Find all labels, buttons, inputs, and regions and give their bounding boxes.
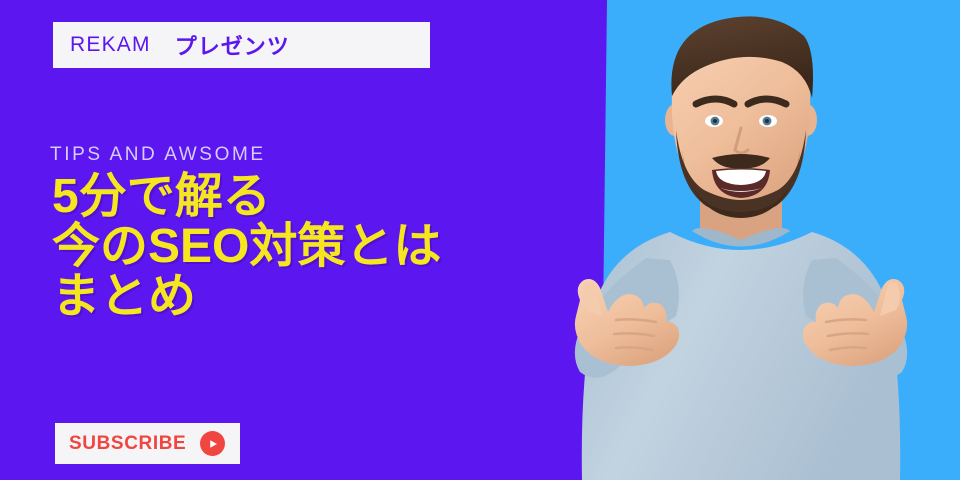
brand-name: REKAM — [70, 33, 151, 57]
presents-banner: REKAM プレゼンツ — [53, 22, 430, 68]
headline-block: 5分で解る 今のSEO対策とは まとめ — [52, 172, 572, 322]
subscribe-button[interactable]: SUBSCRIBE — [55, 423, 240, 464]
head — [665, 16, 817, 218]
headline-line-3: まとめ — [52, 272, 572, 322]
headline-line-1: 5分で解る — [52, 172, 572, 222]
presents-label: プレゼンツ — [175, 29, 290, 61]
thumbnail-canvas: REKAM プレゼンツ TIPS AND AWSOME 5分で解る 今のSEO対… — [0, 0, 960, 480]
eyebrow-text: TIPS AND AWSOME — [50, 144, 266, 166]
headline-line-2: 今のSEO対策とは — [52, 222, 572, 272]
play-icon[interactable] — [200, 431, 225, 456]
subscribe-label: SUBSCRIBE — [69, 433, 186, 455]
subject-photo — [520, 0, 960, 480]
